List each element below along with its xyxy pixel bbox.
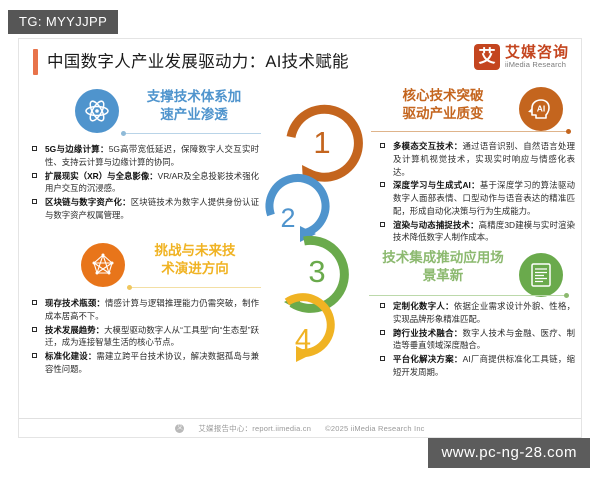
tg-watermark-tag: TG: MYYJJPP — [8, 10, 118, 34]
block-integration-rule — [369, 295, 569, 296]
infographic-page: TG: MYYJJPP 中国数字人产业发展驱动力：AI技术赋能 艾 艾媒咨询 i… — [0, 0, 600, 480]
block-integration-title: 技术集成推动应用场 景革新 — [379, 249, 507, 285]
list-item: 深度学习与生成式AI：基于深度学习的算法驱动数字人面部表情、口型动作与语音表达的… — [379, 179, 575, 217]
list-item: 多模态交互技术：通过语音识别、自然语言处理及计算机视觉技术，实现实时响应与情感化… — [379, 140, 575, 178]
title-accent-bar — [33, 49, 38, 75]
list-item: 扩展现实（XR）与全息影像：VR/AR及全息投影技术强化用户交互的沉浸感。 — [31, 170, 259, 196]
list-item: 标准化建设：需建立跨平台技术协议，解决数据孤岛与兼容性问题。 — [31, 350, 259, 376]
block-core-tech-bullets: 多模态交互技术：通过语音识别、自然语言处理及计算机视觉技术，实现实时响应与情感化… — [379, 140, 575, 244]
logo-text: 艾媒咨询 iiMedia Research — [505, 45, 569, 70]
list-item: 区块链与数字资产化：区块链技术为数字人提供身份认证与数字资产权属管理。 — [31, 196, 259, 222]
url-watermark-tag: www.pc-ng-28.com — [428, 438, 590, 468]
logo-mark-icon: 艾 — [474, 44, 500, 70]
block-core-tech-rule — [371, 131, 571, 132]
document-icon — [519, 253, 563, 297]
step-arrow-1: 1 — [291, 109, 358, 182]
block-support-tech-rule — [121, 133, 261, 134]
footer-copyright: ©2025 iiMedia Research Inc — [325, 424, 425, 433]
block-support-tech: 支撑技术体系加 速产业渗透 5G与边缘计算：5G高带宽低延迟，保障数字人交互实时… — [31, 89, 259, 223]
brand-logo: 艾 艾媒咨询 iiMedia Research — [474, 44, 569, 70]
step-number-3: 3 — [308, 254, 325, 289]
logo-name-cn: 艾媒咨询 — [505, 45, 569, 61]
step-number-1: 1 — [313, 125, 330, 160]
list-item: 渲染与动态捕捉技术：高精度3D建模与实时渲染技术降低数字人制作成本。 — [379, 219, 575, 245]
step-arrows-svg: 1 2 3 — [260, 87, 380, 417]
block-integration: 技术集成推动应用场 景革新 定制化数字人：依据企业需求设计外貌、性格，实现品牌形… — [379, 245, 575, 380]
block-core-tech: AI 核心技术突破 驱动产业质变 多模态交互技术：通过语音识别、自然语言处理及计… — [379, 85, 575, 245]
step-number-4: 4 — [295, 324, 311, 356]
block-challenges-header: 挑战与未来技 术演进方向 — [31, 243, 259, 289]
block-challenges-bullets: 现存技术瓶颈：情感计算与逻辑推理能力仍需突破，制作成本居高不下。 技术发展趋势：… — [31, 297, 259, 376]
list-item: 定制化数字人：依据企业需求设计外貌、性格，实现品牌形象精准匹配。 — [379, 300, 575, 326]
list-item: 5G与边缘计算：5G高带宽低延迟，保障数字人交互实时性、支持云计算与边缘计算的协… — [31, 143, 259, 169]
list-item: 跨行业技术融合：数字人技术与金融、医疗、制造等垂直领域深度融合。 — [379, 327, 575, 353]
list-item: 技术发展趋势：大模型驱动数字人从“工具型”向“生态型”跃迁，成为连接智慧生活的核… — [31, 324, 259, 350]
block-challenges-title: 挑战与未来技 术演进方向 — [131, 242, 259, 278]
footer-report-center: 艾媒报告中心：report.iimedia.cn — [198, 423, 311, 434]
block-integration-bullets: 定制化数字人：依据企业需求设计外貌、性格，实现品牌形象精准匹配。 跨行业技术融合… — [379, 300, 575, 379]
block-support-tech-bullets: 5G与边缘计算：5G高带宽低延迟，保障数字人交互实时性、支持云计算与边缘计算的协… — [31, 143, 259, 222]
footer-logo-icon: 艾 — [175, 424, 184, 433]
slide-header: 中国数字人产业发展驱动力：AI技术赋能 艾 艾媒咨询 iiMedia Resea… — [19, 39, 581, 85]
step-arrow-2: 2 — [270, 178, 326, 242]
ai-head-icon: AI — [519, 87, 563, 131]
block-challenges: 挑战与未来技 术演进方向 现存技术瓶颈：情感计算与逻辑推理能力仍需突破，制作成本… — [31, 243, 259, 377]
network-mesh-icon — [81, 243, 125, 287]
logo-name-en: iiMedia Research — [505, 61, 569, 69]
slide-footer: 艾 艾媒报告中心：report.iimedia.cn ©2025 iiMedia… — [19, 418, 581, 437]
block-integration-header: 技术集成推动应用场 景革新 — [379, 245, 575, 291]
block-core-tech-header: AI 核心技术突破 驱动产业质变 — [379, 85, 575, 131]
step-arrow-chain: 1 2 3 — [260, 87, 380, 417]
block-support-tech-header: 支撑技术体系加 速产业渗透 — [31, 89, 259, 135]
list-item: 现存技术瓶颈：情感计算与逻辑推理能力仍需突破，制作成本居高不下。 — [31, 297, 259, 323]
list-item: 平台化解决方案：AI厂商提供标准化工具链，缩短开发周期。 — [379, 353, 575, 379]
block-support-tech-title: 支撑技术体系加 速产业渗透 — [127, 88, 261, 124]
block-challenges-rule — [127, 287, 261, 288]
slide-body: 1 2 3 — [19, 85, 581, 421]
page-title: 中国数字人产业发展驱动力：AI技术赋能 — [47, 48, 349, 72]
slide-card: 中国数字人产业发展驱动力：AI技术赋能 艾 艾媒咨询 iiMedia Resea… — [18, 38, 582, 438]
step-number-2: 2 — [280, 203, 295, 233]
svg-text:AI: AI — [537, 104, 546, 114]
block-core-tech-title: 核心技术突破 驱动产业质变 — [379, 87, 507, 123]
atom-icon — [75, 89, 119, 133]
